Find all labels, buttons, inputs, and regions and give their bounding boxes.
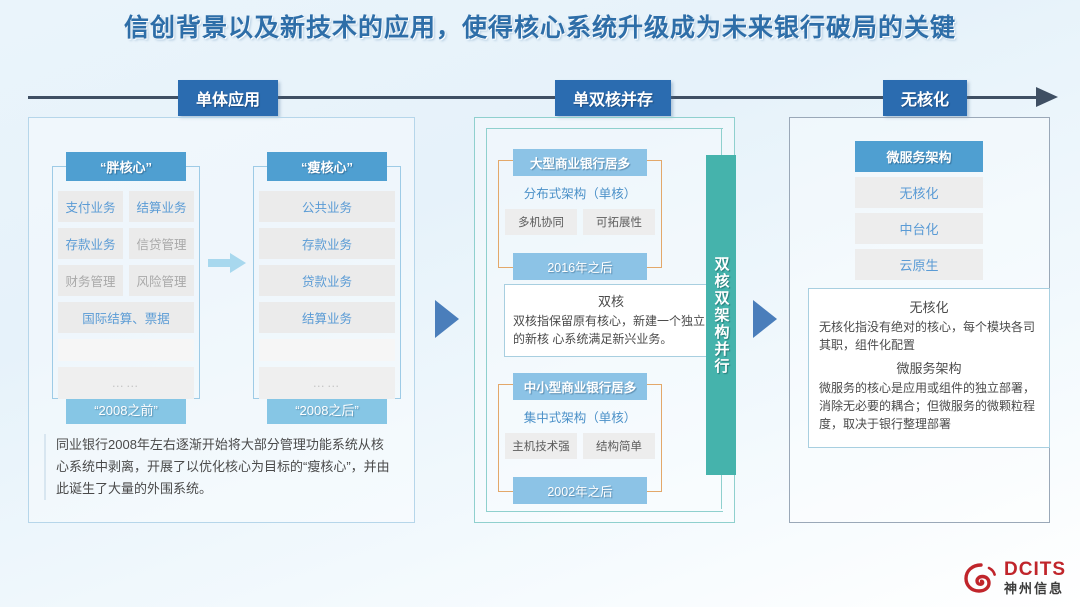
logo-en: DCITS [1004,560,1066,579]
large-bank-box: 大型商业银行居多 分布式架构（单核） 多机协同 可拓展性 2016年之后 [498,160,662,268]
stage-tag-2[interactable]: 单双核并存 [555,80,671,116]
list-item: 云原生 [855,249,983,280]
tag-item: 多机协同 [505,209,577,235]
stage-1-description: 同业银行2008年左右逐渐开始将大部分管理功能系统从核心系统中剥离，开展了以优化… [44,434,396,500]
list-item-blank: . [58,339,194,361]
dual-core-note: 双核 双核指保留原有核心，新建一个独立的新核 心系统满足新兴业务。 [504,284,718,357]
list-item: 支付业务 [58,191,123,222]
large-bank-footer: 2016年之后 [513,253,647,280]
table-row: 国际结算、票据 [58,302,194,333]
timeline: 单体应用 单双核并存 无核化 [28,96,1054,99]
list-item: 财务管理 [58,265,123,296]
tag-item: 结构简单 [583,433,655,459]
stage-tag-3[interactable]: 无核化 [883,80,967,116]
list-item: 国际结算、票据 [58,302,194,333]
microservice-header: 微服务架构 [855,141,983,172]
transition-arrow-icon [208,252,248,274]
list-item-blank: . [259,339,395,361]
list-item: 存款业务 [259,228,395,259]
thin-core-header: “瘦核心” [267,152,387,181]
list-item: 贷款业务 [259,265,395,296]
list-item: 结算业务 [129,191,194,222]
table-row: 存款业务 信贷管理 [58,228,194,259]
coreless-note: 无核化 无核化指没有绝对的核心，每个模块各司其职，组件化配置 微服务架构 微服务… [808,288,1050,448]
small-bank-box: 中小型商业银行居多 集中式架构（单核） 主机技术强 结构简单 2002年之后 [498,384,662,492]
small-bank-tags: 主机技术强 结构简单 [505,433,655,459]
logo-cn: 神州信息 [1004,582,1066,595]
table-row: 结算业务 [259,302,395,333]
dual-core-note-body: 双核指保留原有核心，新建一个独立的新核 心系统满足新兴业务。 [513,312,709,348]
dual-core-vertical-bar: 双核双架构并行 [706,155,736,475]
fat-core-items: 支付业务 结算业务 存款业务 信贷管理 财务管理 风险管理 国际结算、票据 . … [52,181,200,399]
table-row: …… [259,367,395,399]
thin-core-items: 公共业务 存款业务 贷款业务 结算业务 . …… [253,181,401,399]
coreless-note-title-2: 微服务架构 [819,358,1039,377]
teal-connector-bottom [721,475,722,509]
fat-core-column: “胖核心” 支付业务 结算业务 存款业务 信贷管理 财务管理 风险管理 国际结算… [52,152,200,405]
small-bank-subtitle: 集中式架构（单核） [499,407,661,426]
list-item: 无核化 [855,177,983,208]
fat-core-header: “胖核心” [66,152,186,181]
list-item: 风险管理 [129,265,194,296]
large-bank-header: 大型商业银行居多 [513,149,647,176]
stage-transition-arrow-1-icon [435,300,459,338]
list-item-ellipsis: …… [259,367,395,399]
page-title: 信创背景以及新技术的应用，使得核心系统升级成为未来银行破局的关键 [0,8,1080,44]
list-item-ellipsis: …… [58,367,194,399]
list-item: 公共业务 [259,191,395,222]
list-item: 存款业务 [58,228,123,259]
fat-core-footer: “2008之前” [66,395,186,424]
dual-core-note-title: 双核 [513,291,709,310]
thin-core-footer: “2008之后” [267,395,387,424]
table-row: …… [58,367,194,399]
table-row: 贷款业务 [259,265,395,296]
table-row: . [259,339,395,361]
tag-item: 主机技术强 [505,433,577,459]
small-bank-header: 中小型商业银行居多 [513,373,647,400]
stage-tag-1[interactable]: 单体应用 [178,80,278,116]
table-row: . [58,339,194,361]
coreless-note-body-1: 无核化指没有绝对的核心，每个模块各司其职，组件化配置 [819,318,1039,354]
large-bank-subtitle: 分布式架构（单核） [499,183,661,202]
slide-root: 信创背景以及新技术的应用，使得核心系统升级成为未来银行破局的关键 单体应用 单双… [0,0,1080,607]
list-item: 信贷管理 [129,228,194,259]
table-row: 存款业务 [259,228,395,259]
dcits-swirl-icon [964,562,998,594]
tag-item: 可拓展性 [583,209,655,235]
table-row: 支付业务 结算业务 [58,191,194,222]
small-bank-footer: 2002年之后 [513,477,647,504]
list-item: 结算业务 [259,302,395,333]
coreless-note-body-2: 微服务的核心是应用或组件的独立部署，消除无必要的耦合；但微服务的微颗粒程度，取决… [819,379,1039,433]
coreless-note-title-1: 无核化 [819,297,1039,316]
brand-logo: DCITS 神州信息 [964,560,1066,595]
logo-text: DCITS 神州信息 [1004,560,1066,595]
timeline-arrow-head-icon [1036,87,1058,107]
coreless-note-section-1: 无核化 无核化指没有绝对的核心，每个模块各司其职，组件化配置 [819,297,1039,354]
thin-core-column: “瘦核心” 公共业务 存款业务 贷款业务 结算业务 . …… “2008之后” [253,152,401,405]
coreless-note-section-2: 微服务架构 微服务的核心是应用或组件的独立部署，消除无必要的耦合；但微服务的微颗… [819,358,1039,433]
table-row: 公共业务 [259,191,395,222]
large-bank-tags: 多机协同 可拓展性 [505,209,655,235]
list-item: 中台化 [855,213,983,244]
table-row: 财务管理 风险管理 [58,265,194,296]
teal-connector-top [721,128,722,156]
stage-transition-arrow-2-icon [753,300,777,338]
